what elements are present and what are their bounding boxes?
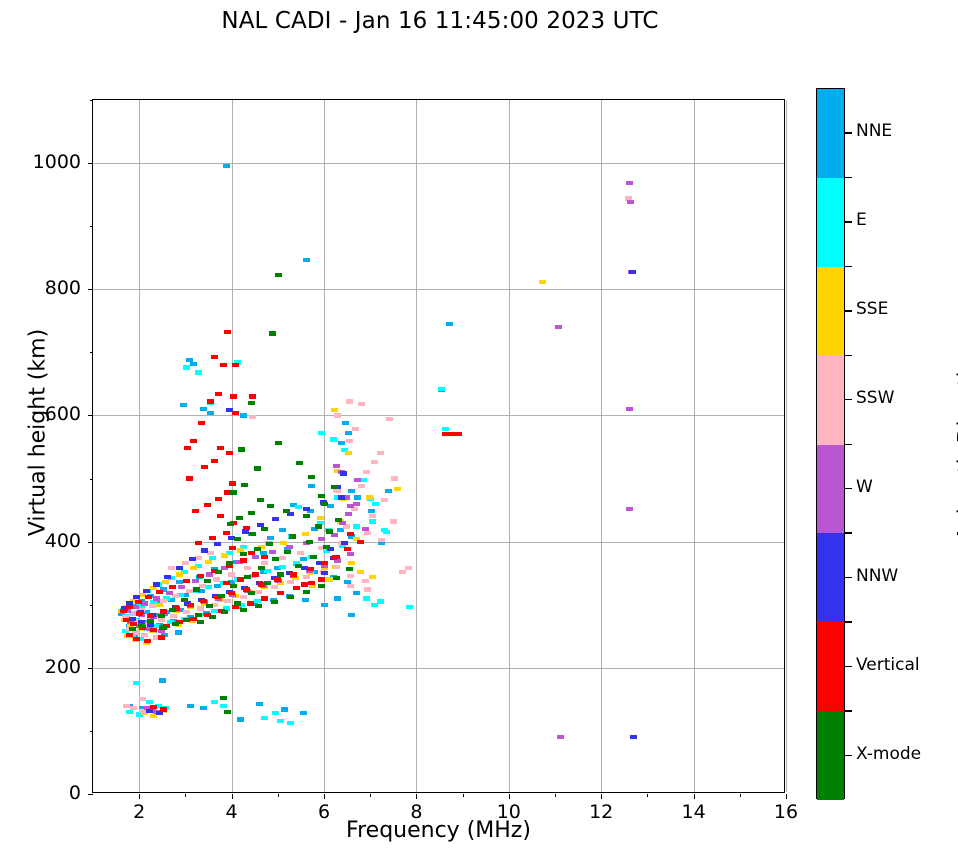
scatter-mark: [229, 481, 236, 485]
scatter-mark: [176, 572, 183, 576]
scatter-mark: [626, 407, 633, 411]
scatter-mark: [381, 498, 388, 502]
scatter-mark: [147, 614, 154, 618]
scatter-mark: [232, 605, 239, 609]
scatter-mark: [346, 439, 353, 443]
scatter-mark: [310, 555, 317, 559]
scatter-mark: [272, 711, 279, 715]
scatter-mark: [377, 451, 384, 455]
scatter-mark: [248, 401, 255, 405]
scatter-mark: [321, 561, 328, 565]
scatter-mark: [192, 509, 199, 513]
y-tick: [88, 668, 93, 669]
scatter-mark: [234, 601, 241, 605]
scatter-mark: [555, 325, 562, 329]
scatter-mark: [284, 550, 291, 554]
scatter-mark: [156, 590, 163, 594]
scatter-mark: [160, 707, 167, 711]
x-tick: [139, 794, 140, 799]
scatter-mark: [215, 570, 222, 574]
scatter-mark: [218, 594, 225, 598]
scatter-mark: [331, 408, 338, 412]
scatter-mark: [162, 580, 169, 584]
scatter-mark: [345, 451, 352, 455]
scatter-mark: [186, 476, 193, 480]
scatter-mark: [227, 522, 234, 526]
colorbar-segment-e[interactable]: [817, 178, 844, 267]
scatter-mark: [153, 596, 160, 600]
colorbar-tick: [845, 577, 852, 578]
x-minor-tick: [555, 794, 556, 797]
scatter-mark: [385, 489, 392, 493]
scatter-mark: [258, 566, 265, 570]
scatter-mark: [627, 200, 634, 204]
scatter-mark: [303, 590, 310, 594]
scatter-mark: [201, 465, 208, 469]
scatter-mark: [234, 537, 241, 541]
scatter-mark: [331, 533, 338, 537]
scatter-mark: [297, 551, 304, 555]
scatter-mark: [249, 532, 256, 536]
scatter-mark: [369, 514, 376, 518]
scatter-mark: [357, 540, 364, 544]
scatter-mark: [330, 437, 337, 441]
scatter-mark: [204, 503, 211, 507]
x-axis-label: Frequency (MHz): [92, 818, 785, 843]
x-minor-tick: [278, 794, 279, 797]
scatter-mark: [209, 615, 216, 619]
scatter-mark: [331, 485, 338, 489]
y-tick: [88, 163, 93, 164]
scatter-mark: [240, 608, 247, 612]
scatter-mark: [190, 439, 197, 443]
scatter-mark: [240, 413, 247, 417]
x-tick: [324, 794, 325, 799]
x-minor-tick: [370, 794, 371, 797]
scatter-mark: [145, 595, 152, 599]
scatter-mark: [300, 557, 307, 561]
scatter-mark: [223, 164, 230, 168]
scatter-mark: [197, 574, 204, 578]
y-minor-tick: [90, 352, 93, 353]
scatter-mark: [348, 613, 355, 617]
colorbar-label-e: E: [856, 210, 867, 230]
scatter-mark: [372, 502, 379, 506]
colorbar-tick: [845, 310, 852, 311]
scatter-mark: [244, 566, 251, 570]
scatter-mark: [626, 507, 633, 511]
x-minor-tick: [185, 794, 186, 797]
y-minor-tick: [90, 100, 93, 101]
scatter-mark: [317, 516, 324, 520]
scatter-mark: [308, 475, 315, 479]
scatter-mark: [368, 509, 375, 513]
scatter-mark: [352, 427, 359, 431]
scatter-mark: [275, 441, 282, 445]
scatter-mark: [224, 330, 231, 334]
scatter-mark: [132, 630, 139, 634]
scatter-mark: [129, 617, 136, 621]
scatter-mark: [261, 596, 268, 600]
scatter-mark: [254, 466, 261, 470]
scatter-mark: [354, 478, 361, 482]
scatter-mark: [133, 637, 140, 641]
scatter-mark: [206, 572, 213, 576]
scatter-mark: [195, 613, 202, 617]
scatter-mark: [287, 580, 294, 584]
scatter-mark: [220, 704, 227, 708]
scatter-mark: [164, 575, 171, 579]
scatter-mark: [307, 567, 314, 571]
x-tick: [416, 794, 417, 799]
scatter-mark: [236, 516, 243, 520]
scatter-mark: [147, 619, 154, 623]
colorbar-tick: [845, 221, 852, 222]
scatter-mark: [244, 575, 251, 579]
scatter-mark: [255, 604, 262, 608]
scatter-mark: [353, 524, 360, 528]
scatter-mark: [160, 625, 167, 629]
colorbar-label-nnw: NNW: [856, 566, 898, 586]
scatter-mark: [438, 387, 445, 391]
scatter-mark: [334, 596, 341, 600]
scatter-mark: [333, 565, 340, 569]
scatter-mark: [183, 618, 190, 622]
scatter-mark: [283, 509, 290, 513]
scatter-mark: [146, 700, 153, 704]
scatter-mark: [346, 399, 353, 403]
scatter-mark: [150, 628, 157, 632]
scatter-mark: [342, 421, 349, 425]
scatter-mark: [327, 504, 334, 508]
scatter-mark: [217, 446, 224, 450]
scatter-mark: [215, 497, 222, 501]
scatter-mark: [153, 582, 160, 586]
scatter-mark: [326, 577, 333, 581]
y-tick: [88, 794, 93, 795]
scatter-mark: [279, 528, 286, 532]
scatter-mark: [626, 181, 633, 185]
scatter-mark: [180, 403, 187, 407]
scatter-mark: [281, 707, 288, 711]
colorbar-segment-nnw[interactable]: [817, 533, 844, 622]
scatter-mark: [211, 700, 218, 704]
scatter-mark: [215, 392, 222, 396]
scatter-mark: [248, 591, 255, 595]
scatter-mark: [248, 511, 255, 515]
scatter-mark: [369, 575, 376, 579]
x-minor-tick: [740, 794, 741, 797]
colorbar-segment-x-mode[interactable]: [817, 711, 844, 800]
scatter-mark: [340, 471, 347, 475]
scatter-mark: [181, 598, 188, 602]
scatter-mark: [230, 394, 237, 398]
scatter-mark: [230, 490, 237, 494]
scatter-mark: [207, 399, 214, 403]
scatter-mark: [255, 590, 262, 594]
scatter-mark: [267, 536, 274, 540]
scatter-mark: [146, 709, 153, 713]
scatter-mark: [232, 411, 239, 415]
scatter-mark: [226, 561, 233, 565]
scatter-mark: [184, 446, 191, 450]
scatter-mark: [237, 577, 244, 581]
scatter-mark: [264, 581, 271, 585]
scatter-mark: [347, 552, 354, 556]
scatter-mark: [138, 623, 145, 627]
colorbar-label-vertical: Vertical: [856, 655, 920, 675]
scatter-mark: [221, 610, 228, 614]
scatter-mark: [169, 608, 176, 612]
scatter-mark: [279, 565, 286, 569]
scatter-mark: [369, 519, 376, 523]
scatter-mark: [254, 547, 261, 551]
scatter-mark: [158, 629, 165, 633]
colorbar-boundary-tick: [845, 532, 852, 533]
scatter-mark: [272, 557, 279, 561]
scatter-mark: [172, 622, 179, 626]
scatter-mark: [347, 574, 354, 578]
scatter-mark: [338, 495, 345, 499]
scatter-mark: [264, 569, 271, 573]
scatter-mark: [272, 517, 279, 521]
scatter-mark: [346, 567, 353, 571]
colorbar-title: Azimuth Direction: [955, 143, 958, 743]
scatter-mark: [308, 581, 315, 585]
scatter-mark: [386, 417, 393, 421]
scatter-mark: [197, 620, 204, 624]
scatter-mark: [176, 566, 183, 570]
x-tick: [694, 794, 695, 799]
scatter-mark: [318, 537, 325, 541]
scatter-mark: [293, 586, 300, 590]
scatter-mark: [217, 514, 224, 518]
scatter-mark: [274, 577, 281, 581]
scatter-mark: [256, 702, 263, 706]
scatter-marks-layer: [93, 100, 784, 792]
y-minor-tick: [90, 605, 93, 606]
y-axis-label: Virtual height (km): [26, 133, 51, 733]
scatter-mark: [347, 532, 354, 536]
scatter-mark: [143, 589, 150, 593]
scatter-mark: [147, 623, 154, 627]
scatter-mark: [133, 595, 140, 599]
scatter-mark: [354, 495, 361, 499]
scatter-mark: [347, 584, 354, 588]
scatter-mark: [399, 570, 406, 574]
colorbar-boundary-tick: [845, 444, 852, 445]
scatter-mark: [315, 524, 322, 528]
scatter-mark: [221, 553, 228, 557]
colorbar-segment-vertical[interactable]: [817, 622, 844, 711]
scatter-mark: [249, 394, 256, 398]
scatter-mark: [362, 527, 369, 531]
scatter-mark: [360, 478, 367, 482]
scatter-mark: [135, 600, 142, 604]
scatter-mark: [344, 547, 351, 551]
scatter-mark: [303, 258, 310, 262]
scatter-mark: [195, 370, 202, 374]
colorbar-tick: [845, 666, 852, 667]
scatter-mark: [169, 585, 176, 589]
scatter-mark: [287, 595, 294, 599]
scatter-mark: [183, 610, 190, 614]
scatter-mark: [193, 587, 200, 591]
scatter-mark: [238, 447, 245, 451]
scatter-mark: [168, 566, 175, 570]
scatter-mark: [353, 502, 360, 506]
y-tick-label: 0: [1, 782, 81, 804]
scatter-mark: [120, 609, 127, 613]
scatter-mark: [224, 599, 231, 603]
scatter-mark: [394, 487, 401, 491]
colorbar-boundary-tick: [845, 266, 852, 267]
scatter-mark: [406, 605, 413, 609]
scatter-mark: [166, 591, 173, 595]
colorbar-segment-nne[interactable]: [817, 89, 844, 178]
scatter-mark: [357, 570, 364, 574]
scatter-mark: [333, 464, 340, 468]
scatter-mark: [300, 711, 307, 715]
scatter-mark: [241, 483, 248, 487]
scatter-mark: [252, 572, 259, 576]
scatter-mark: [343, 524, 350, 528]
scatter-mark: [192, 579, 199, 583]
scatter-mark: [303, 575, 310, 579]
scatter-mark: [130, 706, 137, 710]
scatter-mark: [126, 633, 133, 637]
scatter-mark: [348, 561, 355, 565]
colorbar-segment-sse[interactable]: [817, 267, 844, 356]
scatter-mark: [139, 697, 146, 701]
x-tick: [232, 794, 233, 799]
scatter-mark: [630, 735, 637, 739]
scatter-mark: [237, 717, 244, 721]
scatter-mark: [214, 542, 221, 546]
scatter-mark: [333, 576, 340, 580]
scatter-mark: [247, 601, 254, 605]
scatter-mark: [371, 603, 378, 607]
scatter-mark: [277, 719, 284, 723]
scatter-mark: [345, 512, 352, 516]
scatter-mark: [353, 591, 360, 595]
scatter-mark: [211, 609, 218, 613]
scatter-mark: [195, 556, 202, 560]
x-tick: [786, 794, 787, 799]
scatter-mark: [348, 489, 355, 493]
scatter-mark: [295, 564, 302, 568]
gridline-vertical: [786, 100, 787, 792]
y-minor-tick: [90, 226, 93, 227]
scatter-mark: [175, 630, 182, 634]
scatter-mark: [130, 622, 137, 626]
scatter-mark: [338, 441, 345, 445]
scatter-mark: [229, 546, 236, 550]
scatter-mark: [232, 363, 239, 367]
scatter-mark: [390, 519, 397, 523]
scatter-mark: [289, 534, 296, 538]
scatter-mark: [123, 618, 130, 622]
colorbar-boundary-tick: [845, 355, 852, 356]
colorbar-segment-w[interactable]: [817, 445, 844, 534]
scatter-mark: [189, 557, 196, 561]
colorbar-label-x-mode: X-mode: [856, 744, 921, 764]
scatter-mark: [207, 411, 214, 415]
scatter-mark: [321, 502, 328, 506]
scatter-mark: [190, 362, 197, 366]
scatter-mark: [249, 415, 256, 419]
scatter-mark: [337, 528, 344, 532]
scatter-mark: [371, 460, 378, 464]
scatter-mark: [318, 577, 325, 581]
scatter-mark: [240, 595, 247, 599]
scatter-mark: [206, 604, 213, 608]
scatter-mark: [326, 529, 333, 533]
ionogram-figure: NAL CADI - Jan 16 11:45:00 2023 UTC 2468…: [0, 0, 958, 857]
scatter-mark: [629, 270, 636, 274]
x-tick: [601, 794, 602, 799]
scatter-mark: [129, 627, 136, 631]
y-tick: [88, 289, 93, 290]
scatter-mark: [358, 402, 365, 406]
colorbar-boundary-tick: [845, 621, 852, 622]
scatter-mark: [183, 365, 190, 369]
scatter-mark: [261, 561, 268, 565]
scatter-mark: [557, 735, 564, 739]
scatter-mark: [182, 561, 189, 565]
scatter-mark: [302, 532, 309, 536]
x-minor-tick: [463, 794, 464, 797]
scatter-mark: [363, 470, 370, 474]
scatter-mark: [308, 484, 315, 488]
scatter-mark: [286, 545, 293, 549]
scatter-mark: [187, 704, 194, 708]
scatter-mark: [224, 710, 231, 714]
scatter-mark: [150, 705, 157, 709]
scatter-mark: [366, 495, 373, 499]
colorbar-segment-ssw[interactable]: [817, 356, 844, 445]
scatter-mark: [271, 600, 278, 604]
scatter-mark: [201, 548, 208, 552]
scatter-mark: [136, 611, 143, 615]
colorbar-boundary-tick: [845, 177, 852, 178]
scatter-mark: [198, 421, 205, 425]
scatter-mark: [133, 681, 140, 685]
colorbar-tick: [845, 755, 852, 756]
scatter-mark: [302, 598, 309, 602]
scatter-mark: [303, 514, 310, 518]
scatter-mark: [158, 618, 165, 622]
colorbar-tick: [845, 488, 852, 489]
scatter-mark: [204, 579, 211, 583]
scatter-mark: [123, 704, 130, 708]
scatter-mark: [301, 582, 308, 586]
colorbar[interactable]: [816, 88, 845, 799]
x-minor-tick: [647, 794, 648, 797]
scatter-mark: [228, 591, 235, 595]
scatter-mark: [334, 489, 341, 493]
scatter-mark: [306, 540, 313, 544]
scatter-mark: [275, 273, 282, 277]
colorbar-tick: [845, 399, 852, 400]
scatter-mark: [261, 527, 268, 531]
colorbar-tick: [845, 132, 852, 133]
scatter-mark: [335, 518, 342, 522]
scatter-mark: [183, 579, 190, 583]
scatter-mark: [160, 599, 167, 603]
colorbar-label-nne: NNE: [856, 121, 892, 141]
y-tick: [88, 542, 93, 543]
